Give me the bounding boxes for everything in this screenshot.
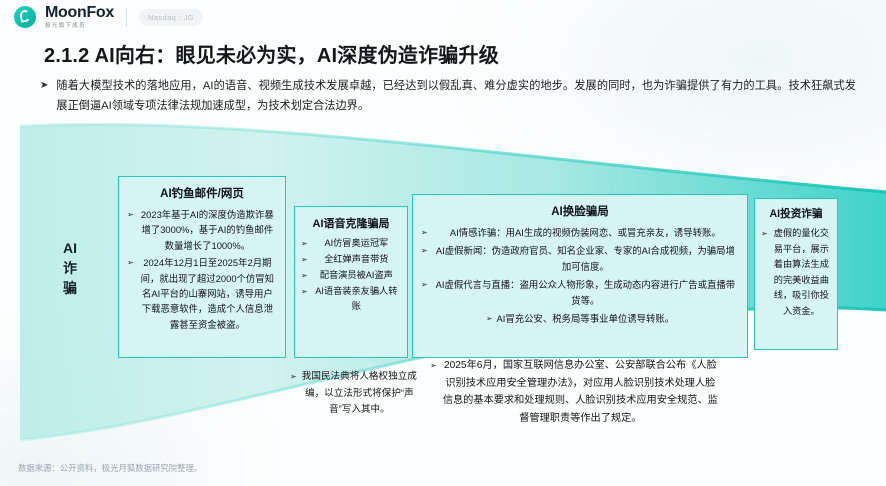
stage-bullet-text: AI虚假代言与直播：盗用公众人物形象，生成动态内容进行广告或直播带货等。 <box>432 277 739 309</box>
bullet-glyph-icon: ➢ <box>301 236 308 251</box>
stage-bullet: ➢ 虚假的量化交易平台，展示着由算法生成的完美收益曲线，吸引你投入资金。 <box>761 226 831 319</box>
stage-card-face-swap[interactable]: AI换脸骗局 ➢ AI情感诈骗：用AI生成的视频伪装网恋、或冒充亲友，诱导转账。… <box>412 194 748 358</box>
lead-text: 随着大模型技术的落地应用，AI的语音、视频生成技术发展卓越，已经达到以假乱真、难… <box>56 76 856 116</box>
note-face-recognition-regulation: ➢ 2025年6月，国家互联网信息办公室、公安部联合公布《人脸识别技术应用安全管… <box>430 357 720 427</box>
header-divider <box>126 8 127 27</box>
stage-bullet-text: 全红婵声音带货 <box>312 252 401 267</box>
stage-bullet: ➢ AI虚假代言与直播：盗用公众人物形象，生成动态内容进行广告或直播带货等。 <box>421 277 739 309</box>
source-footnote: 数据来源：公开资料，极光月狐数据研究院整理。 <box>18 462 202 474</box>
stage-bullet-text: 2023年基于AI的深度伪造欺诈暴增了3000%，基于AI的钓鱼邮件数量增长了1… <box>138 207 277 253</box>
brand-header: MoonFox 极光旗下成员 Nasdaq : JG <box>14 5 203 30</box>
side-label-line-1: AI <box>48 238 92 258</box>
stage-title: AI投资诈骗 <box>761 206 831 221</box>
bullet-glyph-icon: ➢ <box>430 357 437 375</box>
stage-bullet-text: 虚假的量化交易平台，展示着由算法生成的完美收益曲线，吸引你投入资金。 <box>772 226 831 319</box>
bullet-glyph-icon: ➢ <box>761 226 768 242</box>
stage-card-voice-clone[interactable]: AI语音克隆骗局 ➢ AI仿冒奥运冠军 ➢ 全红婵声音带货 ➢ 配音演员被AI盗… <box>294 206 408 358</box>
stage-bullet-text: 配音演员被AI盗声 <box>312 268 401 283</box>
brand-name: MoonFox <box>45 5 114 21</box>
slide-canvas: MoonFox 极光旗下成员 Nasdaq : JG 2.1.2 AI向右：眼见… <box>0 0 886 486</box>
stage-bullet: ➢ AI情感诈骗：用AI生成的视频伪装网恋、或冒充亲友，诱导转账。 <box>421 225 739 241</box>
note-text: 我国民法典将人格权独立成编，以立法形式将保护“声音”写入其中。 <box>301 369 418 419</box>
brand-subtitle: 极光旗下成员 <box>45 24 114 30</box>
stage-bullet: ➢ AI语音装亲友骗人转账 <box>301 284 401 314</box>
stage-bullet: ➢ 2024年12月1日至2025年2月期间，就出现了超过2000个仿冒知名AI… <box>127 255 277 332</box>
stage-bullet: ➢ 全红婵声音带货 <box>301 252 401 267</box>
moonfox-logo-icon <box>14 6 36 28</box>
bullet-glyph-icon: ➢ <box>301 268 308 283</box>
side-label-line-2: 诈 <box>48 258 92 278</box>
stage-bullet-text: 2024年12月1日至2025年2月期间，就出现了超过2000个仿冒知名AI平台… <box>138 255 277 332</box>
bullet-glyph-icon: ➢ <box>127 255 134 270</box>
bullet-glyph-icon: ➢ <box>421 243 428 259</box>
stage-bullet: ➢ AI虚假新闻：伪造政府官员、知名企业家、专家的AI合成视频，为骗局增加可信度… <box>421 243 739 275</box>
stage-bullet: ➢ 2023年基于AI的深度伪造欺诈暴增了3000%，基于AI的钓鱼邮件数量增长… <box>127 207 277 253</box>
bullet-glyph-icon: ➢ <box>127 207 134 222</box>
stage-bullet-text: AI语音装亲友骗人转账 <box>312 284 401 314</box>
stage-bullet-text: AI仿冒奥运冠军 <box>312 236 401 251</box>
stage-bullet-text: AI虚假新闻：伪造政府官员、知名企业家、专家的AI合成视频，为骗局增加可信度。 <box>432 243 739 275</box>
funnel-side-label: AI 诈 骗 <box>48 238 92 298</box>
brand-text-group: MoonFox 极光旗下成员 <box>45 5 114 30</box>
bullet-glyph-icon: ➢ <box>486 311 493 327</box>
bullet-glyph-icon: ➢ <box>301 284 308 299</box>
note-civil-code: ➢ 我国民法典将人格权独立成编，以立法形式将保护“声音”写入其中。 <box>290 369 418 419</box>
stage-title: AI语音克隆骗局 <box>301 215 401 231</box>
lead-paragraph: ➤ 随着大模型技术的落地应用，AI的语音、视频生成技术发展卓越，已经达到以假乱真… <box>40 76 856 116</box>
stage-title: AI钓鱼邮件/网页 <box>127 185 277 201</box>
stage-bullet: ➢ 配音演员被AI盗声 <box>301 268 401 283</box>
stage-card-investment-fraud[interactable]: AI投资诈骗 ➢ 虚假的量化交易平台，展示着由算法生成的完美收益曲线，吸引你投入… <box>754 198 838 350</box>
stage-bullet-text: AI冒充公安、税务局等事业单位诱导转账。 <box>497 311 675 327</box>
side-label-line-3: 骗 <box>48 278 92 298</box>
stage-bullet-text: AI情感诈骗：用AI生成的视频伪装网恋、或冒充亲友，诱导转账。 <box>432 225 739 241</box>
stage-card-phishing[interactable]: AI钓鱼邮件/网页 ➢ 2023年基于AI的深度伪造欺诈暴增了3000%，基于A… <box>118 176 286 358</box>
bullet-glyph-icon: ➢ <box>421 225 428 241</box>
note-text: 2025年6月，国家互联网信息办公室、公安部联合公布《人脸识别技术应用安全管理办… <box>441 357 720 427</box>
stage-title: AI换脸骗局 <box>421 203 739 219</box>
bullet-glyph-icon: ➢ <box>290 369 297 386</box>
stage-bullet: ➢ AI冒充公安、税务局等事业单位诱导转账。 <box>421 311 739 327</box>
stock-ticker-badge: Nasdaq : JG <box>139 9 203 26</box>
bullet-glyph-icon: ➢ <box>421 277 428 293</box>
page-title: 2.1.2 AI向右：眼见未必为实，AI深度伪造诈骗升级 <box>44 39 499 68</box>
bullet-glyph-icon: ➢ <box>301 252 308 267</box>
bullet-arrow-icon: ➤ <box>40 76 48 116</box>
stage-bullet: ➢ AI仿冒奥运冠军 <box>301 236 401 251</box>
